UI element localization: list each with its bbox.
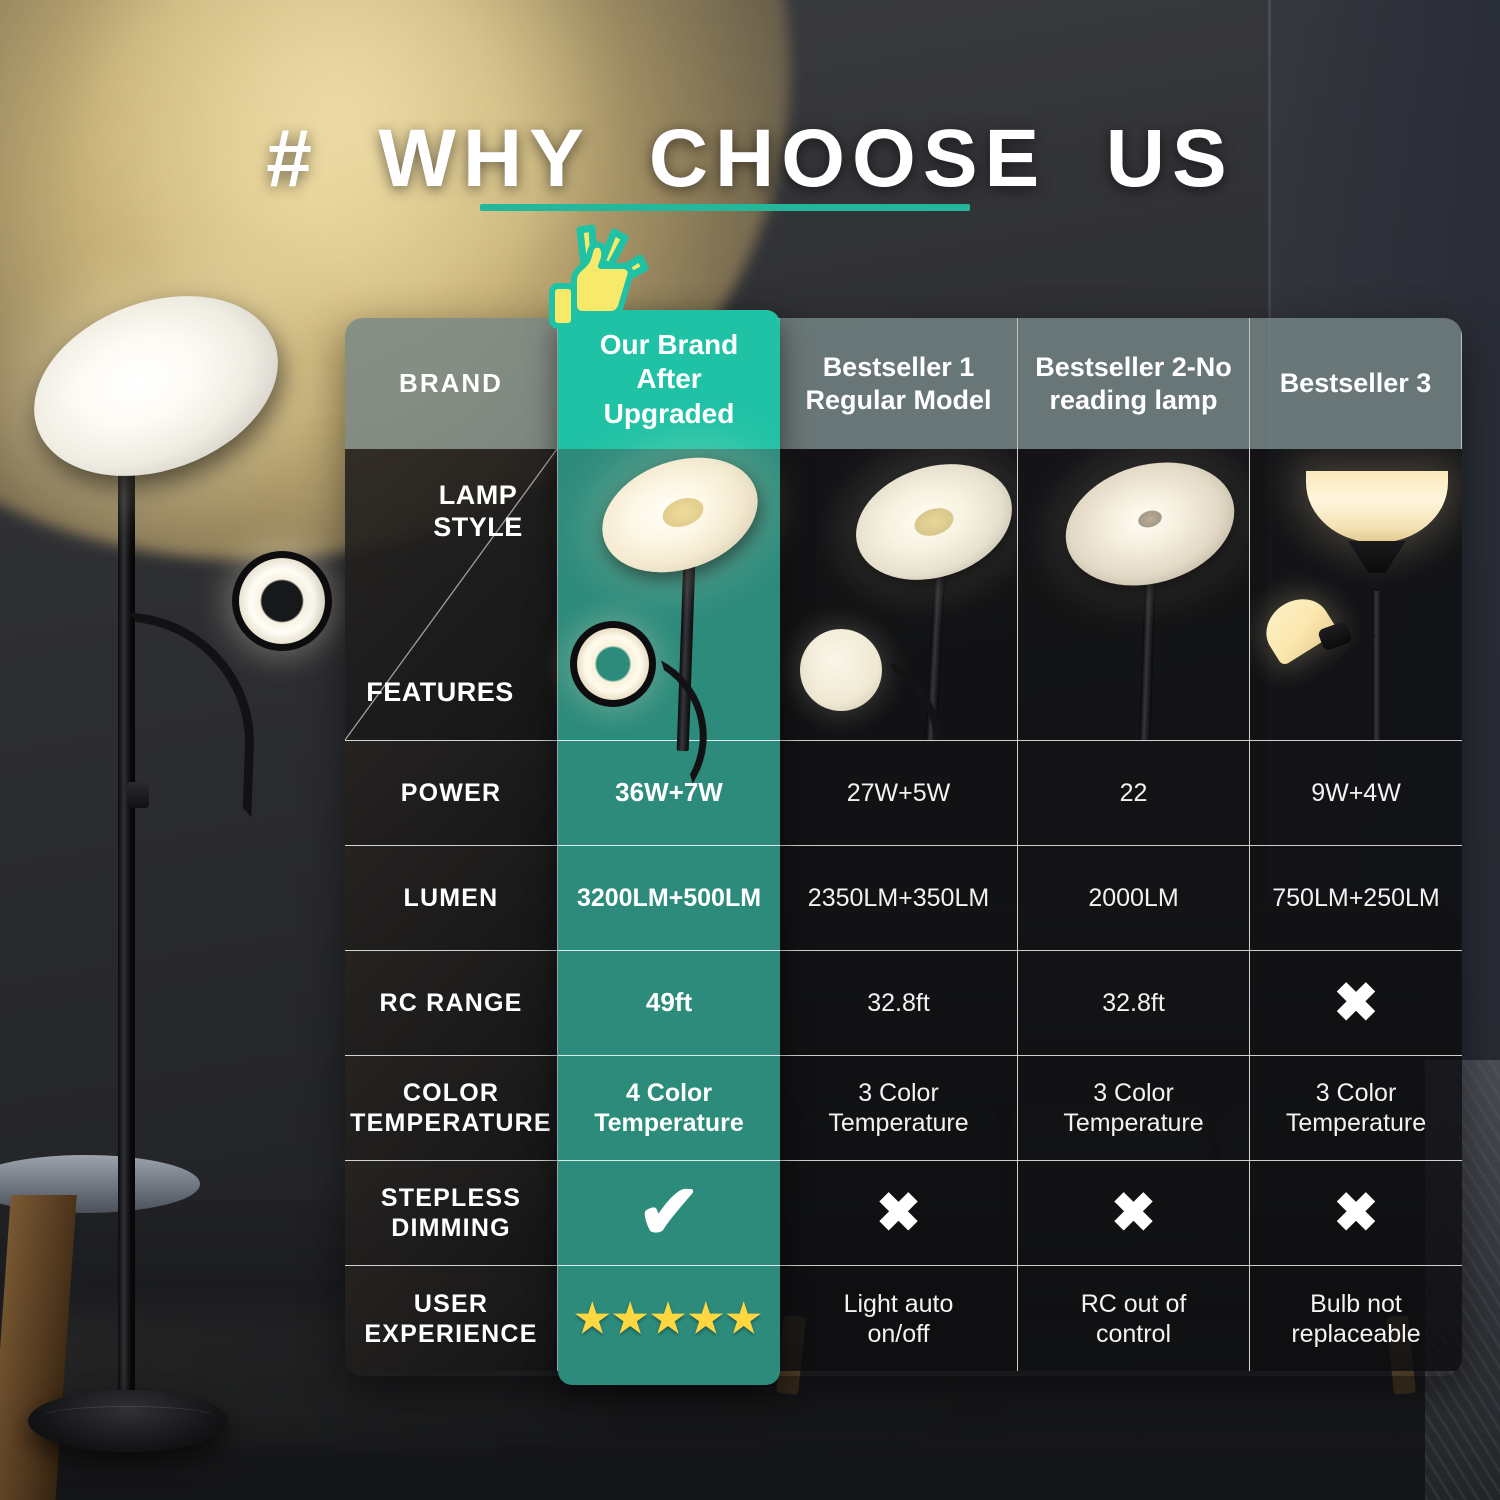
check-icon: ✔ — [637, 1181, 701, 1246]
cell-value: 49ft — [646, 987, 692, 1018]
cell-stepless-dimming-bestseller-1: ✖ — [780, 1161, 1018, 1266]
cell-value: 32.8ft — [1102, 988, 1165, 1018]
table-row-color-temperature: COLOR TEMPERATURE 3 Color Temperature 3 … — [345, 1056, 1462, 1161]
cell-rc-range-bestseller-1: 32.8ft — [780, 951, 1018, 1056]
our-user-experience-rating: ★★★★★ — [558, 1266, 780, 1371]
page-title: # WHY CHOOSE US — [266, 112, 1233, 206]
lamp-image-our-brand — [558, 449, 780, 740]
cell-power-bestseller-1: 27W+5W — [780, 741, 1018, 846]
row-label-text: POWER — [401, 778, 501, 808]
our-brand-header-label: Our Brand After Upgraded — [600, 328, 738, 430]
hero-lamp-pole — [118, 455, 135, 1430]
cell-color-temperature-bestseller-2: 3 Color Temperature — [1018, 1056, 1250, 1161]
cell-value: 750LM+250LM — [1272, 883, 1439, 913]
table-row-user-experience: USER EXPERIENCE Light auto on/off RC out… — [345, 1266, 1462, 1371]
column-header-bestseller-3: Bestseller 3 — [1250, 318, 1462, 449]
row-label-text: STEPLESS DIMMING — [381, 1183, 521, 1243]
cell-user-experience-bestseller-2: RC out of control — [1018, 1266, 1250, 1371]
row-label-text: RC RANGE — [380, 988, 523, 1018]
cell-value: 3 Color Temperature — [1063, 1078, 1203, 1138]
table-row-lamp-style: LAMP STYLE FEATURES — [345, 449, 1462, 741]
header-label: BRAND — [399, 368, 503, 399]
highlighted-column-our-brand: Our Brand After Upgraded 36W+7W 3200LM+5… — [558, 310, 780, 1385]
cell-rc-range-bestseller-3: ✖ — [1250, 951, 1462, 1056]
row-label-text: LUMEN — [404, 883, 499, 913]
title-underline — [480, 204, 970, 211]
row-label-color-temperature: COLOR TEMPERATURE — [345, 1056, 558, 1161]
cell-lamp-style-bestseller-2 — [1018, 449, 1250, 741]
cell-value: Bulb not replaceable — [1291, 1289, 1420, 1349]
row-label-rc-range: RC RANGE — [345, 951, 558, 1056]
row-label-features: FEATURES — [355, 676, 525, 708]
lamp-image-bestseller-3 — [1250, 449, 1462, 740]
cell-value: RC out of control — [1081, 1289, 1187, 1349]
cell-value: 4 Color Temperature — [594, 1078, 744, 1138]
table-header-row: BRAND Bestseller 1 Regular Model Bestsel… — [345, 318, 1462, 449]
row-label-lumen: LUMEN — [345, 846, 558, 951]
our-lumen-value: 3200LM+500LM — [558, 846, 780, 951]
row-label-text: USER EXPERIENCE — [364, 1289, 537, 1349]
row-label-power: POWER — [345, 741, 558, 846]
our-stepless-dimming-value: ✔ — [558, 1161, 780, 1266]
cell-stepless-dimming-bestseller-3: ✖ — [1250, 1161, 1462, 1266]
cell-lumen-bestseller-2: 2000LM — [1018, 846, 1250, 951]
cell-lumen-bestseller-1: 2350LM+350LM — [780, 846, 1018, 951]
cell-lumen-bestseller-3: 750LM+250LM — [1250, 846, 1462, 951]
row-label-stepless-dimming: STEPLESS DIMMING — [345, 1161, 558, 1266]
cell-stepless-dimming-bestseller-2: ✖ — [1018, 1161, 1250, 1266]
thumbs-up-icon — [540, 222, 652, 334]
cell-lamp-style-bestseller-3 — [1250, 449, 1462, 741]
comparison-table: BRAND Bestseller 1 Regular Model Bestsel… — [345, 318, 1462, 1376]
cell-value: 22 — [1120, 778, 1148, 808]
cell-lamp-style-bestseller-1 — [780, 449, 1018, 741]
cell-value: 9W+4W — [1311, 778, 1401, 808]
our-color-temperature-value: 4 Color Temperature — [558, 1056, 780, 1161]
hero-lamp-ring-reading-light — [232, 551, 332, 651]
cross-icon: ✖ — [876, 1186, 921, 1240]
lamp-image-bestseller-2 — [1018, 449, 1249, 740]
column-header-brand: BRAND — [345, 318, 558, 449]
row-label-lamp-style-features: LAMP STYLE FEATURES — [345, 449, 558, 741]
cell-rc-range-bestseller-2: 32.8ft — [1018, 951, 1250, 1056]
cell-color-temperature-bestseller-3: 3 Color Temperature — [1250, 1056, 1462, 1161]
column-header-bestseller-1: Bestseller 1 Regular Model — [780, 318, 1018, 449]
our-rc-range-value: 49ft — [558, 951, 780, 1056]
cross-icon: ✖ — [1333, 976, 1378, 1030]
table-row-rc-range: RC RANGE 32.8ft 32.8ft ✖ — [345, 951, 1462, 1056]
row-label-text: COLOR TEMPERATURE — [350, 1078, 552, 1138]
cell-value: 36W+7W — [615, 777, 723, 808]
cell-value: 3200LM+500LM — [577, 883, 761, 913]
cell-value: 27W+5W — [847, 778, 951, 808]
cell-value: 2000LM — [1088, 883, 1178, 913]
cell-power-bestseller-3: 9W+4W — [1250, 741, 1462, 846]
hero-lamp-base — [28, 1390, 228, 1452]
cell-value: 3 Color Temperature — [1286, 1078, 1426, 1138]
page-title-area: # WHY CHOOSE US — [0, 112, 1500, 206]
header-label: Bestseller 2-No reading lamp — [1035, 351, 1232, 416]
cell-color-temperature-bestseller-1: 3 Color Temperature — [780, 1056, 1018, 1161]
cell-value: 32.8ft — [867, 988, 930, 1018]
cross-icon: ✖ — [1333, 1186, 1378, 1240]
row-label-user-experience: USER EXPERIENCE — [345, 1266, 558, 1371]
table-row-power: POWER 27W+5W 22 9W+4W — [345, 741, 1462, 846]
header-label: Bestseller 3 — [1280, 367, 1432, 399]
cell-value: Light auto on/off — [844, 1289, 954, 1349]
cell-user-experience-bestseller-3: Bulb not replaceable — [1250, 1266, 1462, 1371]
our-lamp-style-image — [558, 449, 780, 741]
column-header-bestseller-2: Bestseller 2-No reading lamp — [1018, 318, 1250, 449]
cell-power-bestseller-2: 22 — [1018, 741, 1250, 846]
cross-icon: ✖ — [1111, 1186, 1156, 1240]
table-row-stepless-dimming: STEPLESS DIMMING ✖ ✖ ✖ — [345, 1161, 1462, 1266]
row-label-lamp-style: LAMP STYLE — [413, 479, 543, 544]
our-brand-column-body: 36W+7W 3200LM+500LM 49ft 4 Color Tempera… — [558, 449, 780, 1385]
header-label: Bestseller 1 Regular Model — [805, 351, 991, 416]
star-rating: ★★★★★ — [574, 1295, 763, 1343]
table-row-lumen: LUMEN 2350LM+350LM 2000LM 750LM+250LM — [345, 846, 1462, 951]
lamp-image-bestseller-1 — [780, 449, 1017, 740]
cell-value: 3 Color Temperature — [828, 1078, 968, 1138]
cell-value: 2350LM+350LM — [808, 883, 989, 913]
cell-user-experience-bestseller-1: Light auto on/off — [780, 1266, 1018, 1371]
